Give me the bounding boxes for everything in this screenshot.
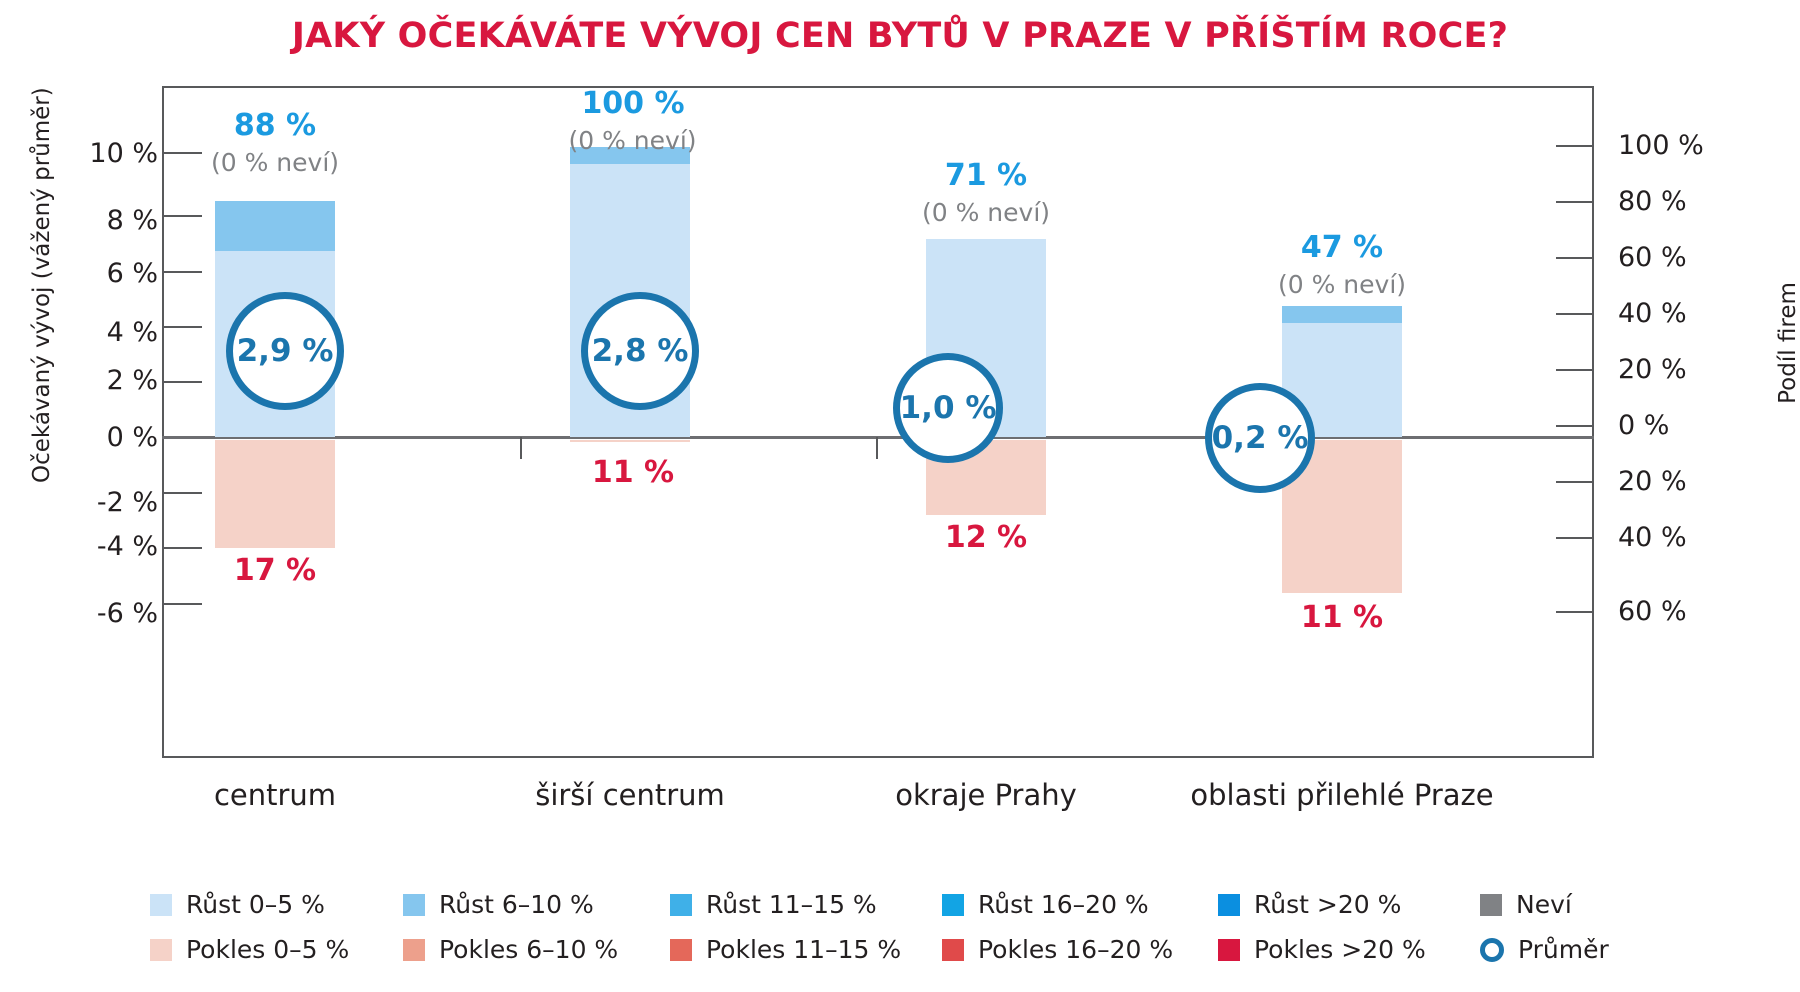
x-axis-label-sirsi-centrum: širší centrum [520, 778, 740, 812]
growth-total-label: 71 % [906, 160, 1066, 192]
legend-label: Pokles 0–5 % [186, 935, 349, 964]
x-axis-label-oblasti-prilehle-praze: oblasti přilehlé Praze [1172, 778, 1512, 812]
legend-swatch-icon [150, 894, 172, 916]
y-axis-left-tick: 0 % [18, 422, 158, 453]
legend: Růst 0–5 % Růst 6–10 % Růst 11–15 % Růst… [150, 890, 1790, 980]
legend-item-pokles-6-10[interactable]: Pokles 6–10 % [403, 935, 618, 964]
average-circle-centrum[interactable]: 2,9 % [226, 292, 344, 410]
legend-swatch-icon [670, 939, 692, 961]
decline-total-label: 17 % [195, 553, 355, 588]
legend-row-decline: Pokles 0–5 % Pokles 6–10 % Pokles 11–15 … [150, 935, 1790, 980]
legend-item-rust-6-10[interactable]: Růst 6–10 % [403, 890, 594, 919]
legend-item-pokles-nad-20[interactable]: Pokles >20 % [1218, 935, 1426, 964]
legend-item-rust-16-20[interactable]: Růst 16–20 % [942, 890, 1149, 919]
y-axis-left-tick: 8 % [18, 205, 158, 236]
legend-swatch-icon [150, 939, 172, 961]
legend-row-growth: Růst 0–5 % Růst 6–10 % Růst 11–15 % Růst… [150, 890, 1790, 935]
legend-item-prumer[interactable]: Průměr [1480, 935, 1609, 964]
y-axis-right-tick: 20 % [1618, 354, 1778, 385]
average-value: 2,8 % [592, 333, 689, 369]
bar-segment-pokles-0-5 [215, 440, 335, 548]
legend-item-rust-11-15[interactable]: Růst 11–15 % [670, 890, 877, 919]
x-axis-label-okraje-prahy: okraje Prahy [866, 778, 1106, 812]
y-axis-right-title: Podíl firem [1775, 223, 1800, 463]
x-axis-tickmark [876, 437, 878, 459]
legend-label: Růst 0–5 % [186, 890, 325, 919]
y-axis-right-tick: 20 % [1618, 466, 1778, 497]
y-axis-right-tick: 80 % [1618, 186, 1778, 217]
decline-total-label: 11 % [1262, 600, 1422, 635]
legend-label: Růst 6–10 % [439, 890, 594, 919]
decline-total-label: 11 % [548, 455, 718, 490]
legend-swatch-icon [1218, 894, 1240, 916]
y-axis-right-tick: 40 % [1618, 298, 1778, 329]
legend-item-pokles-0-5[interactable]: Pokles 0–5 % [150, 935, 349, 964]
chart-root: JAKÝ OČEKÁVÁTE VÝVOJ CEN BYTŮ V PRAZE V … [0, 0, 1800, 992]
average-value: 0,2 % [1212, 420, 1309, 456]
y-axis-left-tick: -2 % [18, 487, 158, 518]
bar-segment-rust-6-10 [215, 201, 335, 251]
decline-total-label: 12 % [906, 520, 1066, 555]
legend-item-rust-0-5[interactable]: Růst 0–5 % [150, 890, 325, 919]
average-value: 2,9 % [237, 333, 334, 369]
average-circle-sirsi-centrum[interactable]: 2,8 % [581, 292, 699, 410]
y-axis-left-tick: 2 % [18, 365, 158, 396]
legend-swatch-icon [1218, 939, 1240, 961]
legend-swatch-icon [670, 894, 692, 916]
y-axis-right-tick: 100 % [1618, 130, 1778, 161]
dont-know-label: (0 % neví) [896, 198, 1076, 227]
bar-segment-rust-6-10 [1282, 306, 1402, 323]
dont-know-label: (0 % neví) [1252, 270, 1432, 299]
average-circle-icon [1480, 938, 1504, 962]
dont-know-label: (0 % neví) [185, 148, 365, 177]
legend-label: Pokles 16–20 % [978, 935, 1173, 964]
bar-sirsi-centrum-negative[interactable] [570, 440, 690, 442]
y-axis-right-tick: 60 % [1618, 596, 1778, 627]
y-axis-right-tick: 0 % [1618, 410, 1778, 441]
bar-segment-pokles-0-5 [570, 440, 690, 442]
legend-label: Průměr [1518, 935, 1609, 964]
y-axis-left-tick: -4 % [18, 531, 158, 562]
x-axis-tickmark [520, 437, 522, 459]
legend-label: Růst >20 % [1254, 890, 1401, 919]
legend-label: Pokles >20 % [1254, 935, 1426, 964]
legend-item-pokles-11-15[interactable]: Pokles 11–15 % [670, 935, 901, 964]
chart-title: JAKÝ OČEKÁVÁTE VÝVOJ CEN BYTŮ V PRAZE V … [0, 16, 1800, 56]
legend-label: Pokles 6–10 % [439, 935, 618, 964]
growth-total-label: 47 % [1262, 232, 1422, 264]
average-value: 1,0 % [900, 390, 997, 426]
average-circle-okraje-prahy[interactable]: 1,0 % [893, 353, 1003, 463]
y-axis-left-tick: 6 % [18, 258, 158, 289]
y-axis-left-tick: 4 % [18, 317, 158, 348]
legend-label: Růst 16–20 % [978, 890, 1149, 919]
dont-know-label: (0 % neví) [540, 126, 725, 155]
legend-item-nevi[interactable]: Neví [1480, 890, 1572, 919]
legend-swatch-icon [1480, 894, 1502, 916]
bar-centrum-negative[interactable] [215, 440, 335, 548]
legend-item-pokles-16-20[interactable]: Pokles 16–20 % [942, 935, 1173, 964]
y-axis-left-tick: -6 % [18, 598, 158, 629]
legend-swatch-icon [942, 894, 964, 916]
growth-total-label: 88 % [195, 110, 355, 142]
x-axis-label-centrum: centrum [175, 778, 375, 812]
legend-label: Pokles 11–15 % [706, 935, 901, 964]
y-axis-right-tick: 60 % [1618, 242, 1778, 273]
y-axis-left-tick: 10 % [18, 138, 158, 169]
legend-swatch-icon [403, 894, 425, 916]
legend-item-rust-nad-20[interactable]: Růst >20 % [1218, 890, 1401, 919]
y-axis-right-tick: 40 % [1618, 522, 1778, 553]
growth-total-label: 100 % [548, 88, 718, 120]
legend-label: Růst 11–15 % [706, 890, 877, 919]
average-circle-oblasti-prilehle-praze[interactable]: 0,2 % [1205, 383, 1315, 493]
legend-label: Neví [1516, 890, 1572, 919]
legend-swatch-icon [403, 939, 425, 961]
legend-swatch-icon [942, 939, 964, 961]
